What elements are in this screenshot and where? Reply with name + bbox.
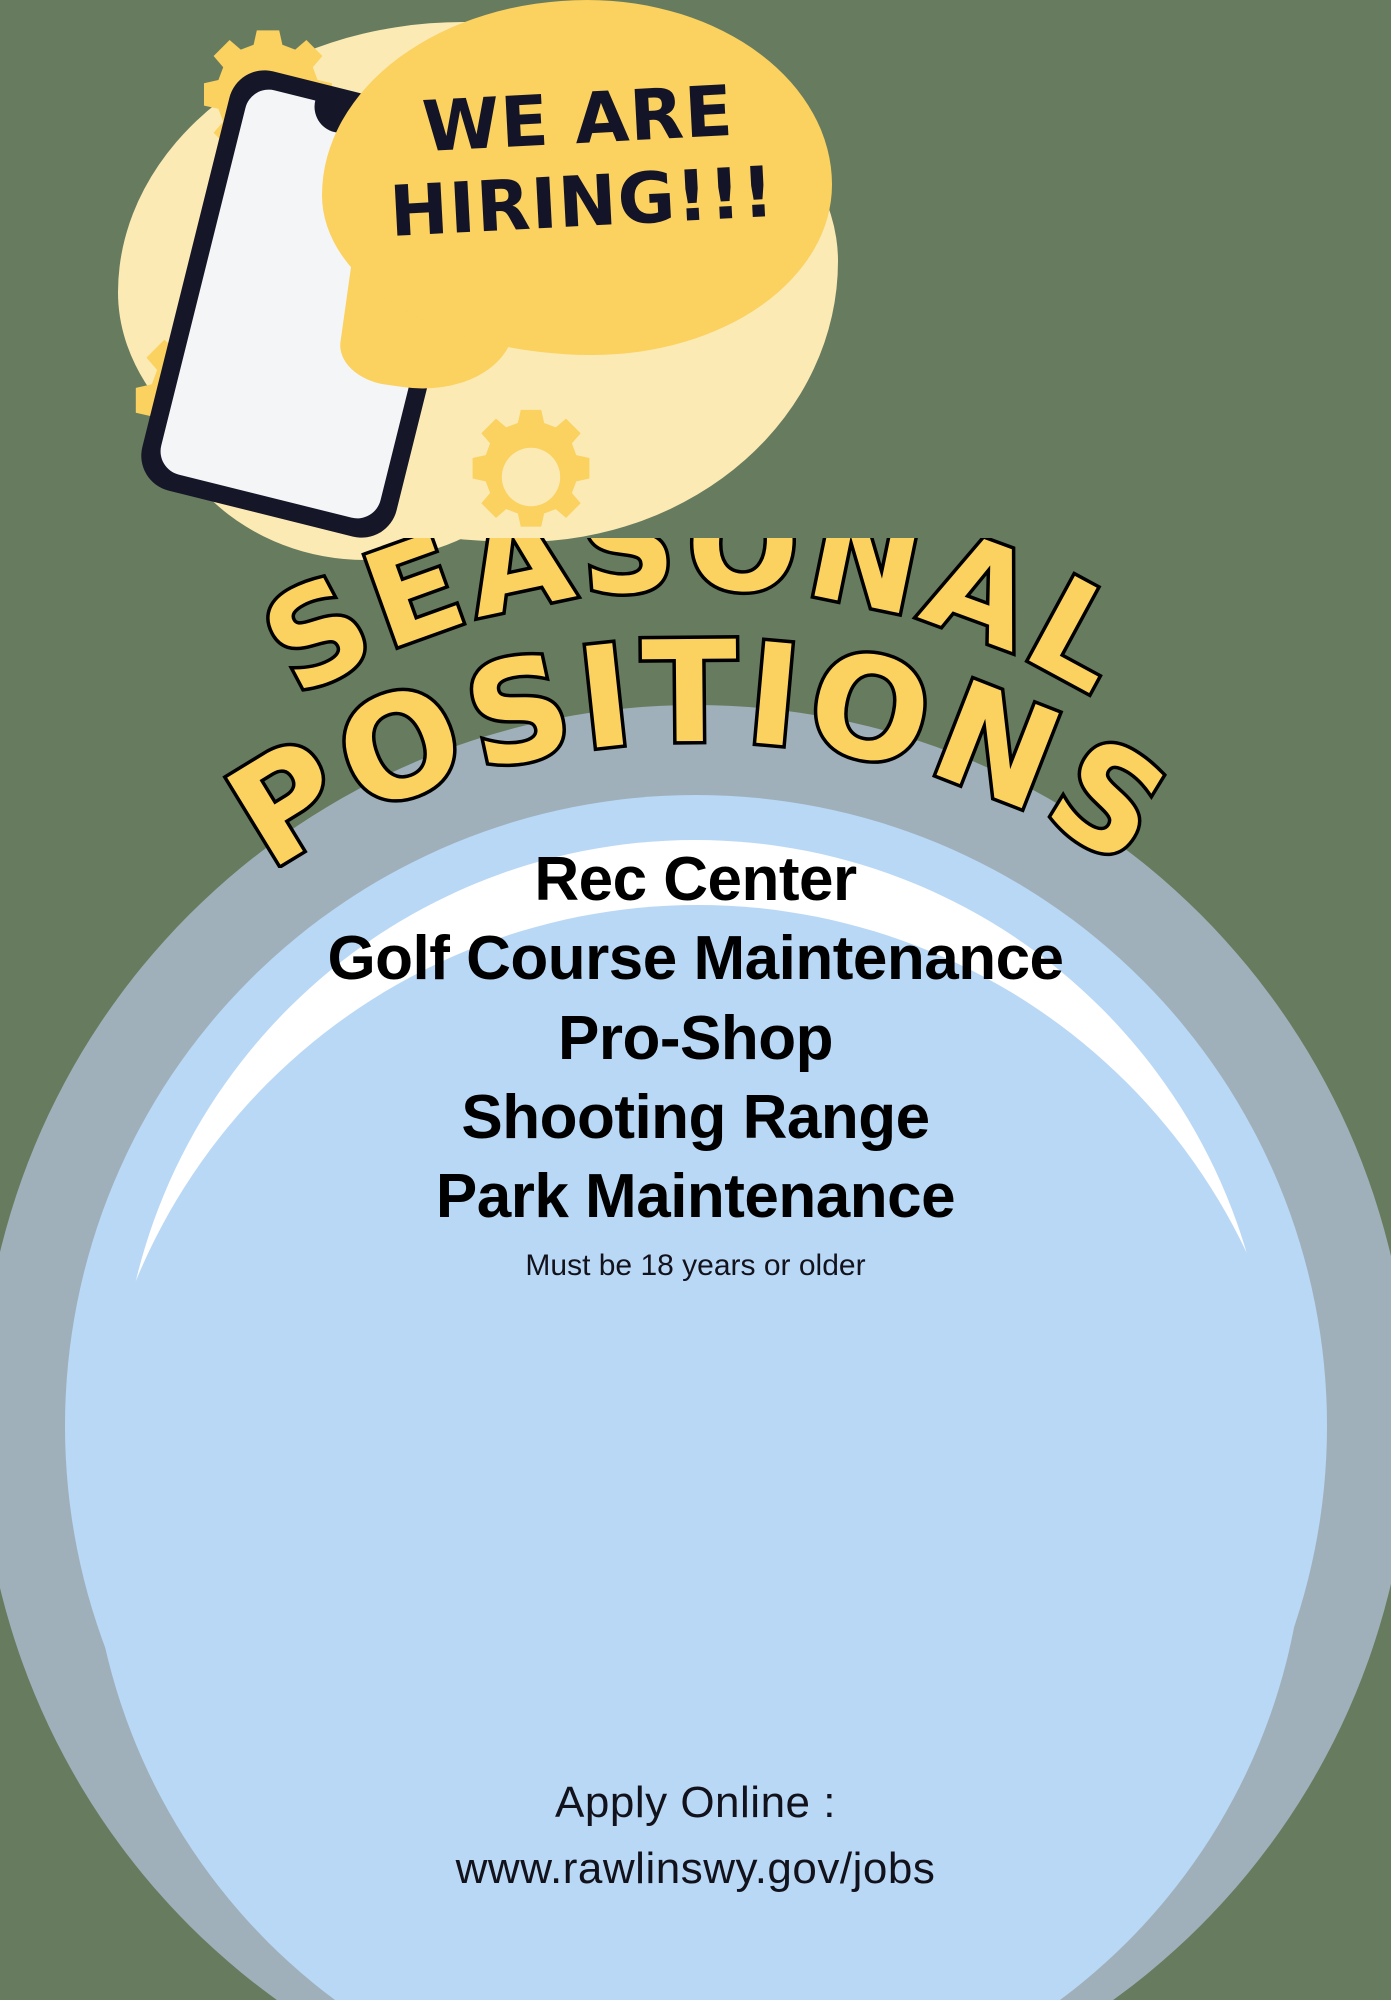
age-requirement: Must be 18 years or older <box>0 1249 1391 1283</box>
apply-block: Apply Online : www.rawlinswy.gov/jobs <box>0 1770 1391 1902</box>
hero-illustration: WE ARE HIRING!!! <box>0 0 1000 580</box>
apply-url[interactable]: www.rawlinswy.gov/jobs <box>0 1836 1391 1902</box>
job-poster: WE ARE HIRING!!! SEASONAL POSITIONS Rec <box>0 0 1391 2000</box>
apply-label: Apply Online : <box>0 1770 1391 1836</box>
job-item: Golf Course Maintenance <box>0 919 1391 998</box>
job-item: Shooting Range <box>0 1078 1391 1157</box>
seasonal-positions-headline: SEASONAL POSITIONS <box>0 538 1391 868</box>
job-item: Park Maintenance <box>0 1157 1391 1236</box>
job-list: Rec Center Golf Course Maintenance Pro-S… <box>0 840 1391 1283</box>
gear-icon <box>458 404 604 550</box>
hiring-headline: WE ARE HIRING!!! <box>331 65 829 256</box>
job-item: Rec Center <box>0 840 1391 919</box>
hiring-line-1: WE ARE <box>420 70 735 168</box>
job-item: Pro-Shop <box>0 999 1391 1078</box>
